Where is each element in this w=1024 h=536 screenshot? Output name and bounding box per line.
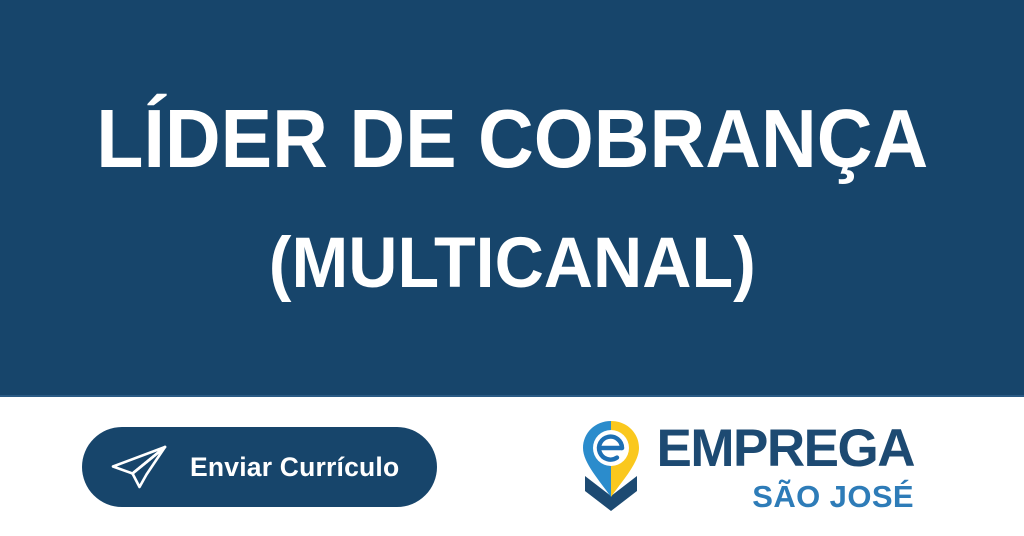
page-title-line-2: (MULTICANAL) <box>83 228 942 300</box>
hero-section: LÍDER DE COBRANÇA (MULTICANAL) <box>0 0 1024 397</box>
paper-plane-send-icon <box>110 444 168 490</box>
map-pin-e-icon <box>580 419 642 514</box>
footer-bar: Enviar Currículo <box>0 397 1024 536</box>
send-resume-button[interactable]: Enviar Currículo <box>82 427 437 507</box>
logo-brand-subtitle: SÃO JOSÉ <box>752 481 914 512</box>
emprega-sao-jose-logo[interactable]: EMPREGA SÃO JOSÉ <box>580 419 1002 514</box>
send-resume-button-label: Enviar Currículo <box>190 454 399 481</box>
page-title-line-1: LÍDER DE COBRANÇA <box>96 97 928 182</box>
logo-brand-name: EMPREGA <box>657 422 914 475</box>
page-title: LÍDER DE COBRANÇA (MULTICANAL) <box>65 97 960 300</box>
job-posting-banner: LÍDER DE COBRANÇA (MULTICANAL) Enviar Cu… <box>0 0 1024 536</box>
logo-wordmark: EMPREGA SÃO JOSÉ <box>657 422 914 512</box>
